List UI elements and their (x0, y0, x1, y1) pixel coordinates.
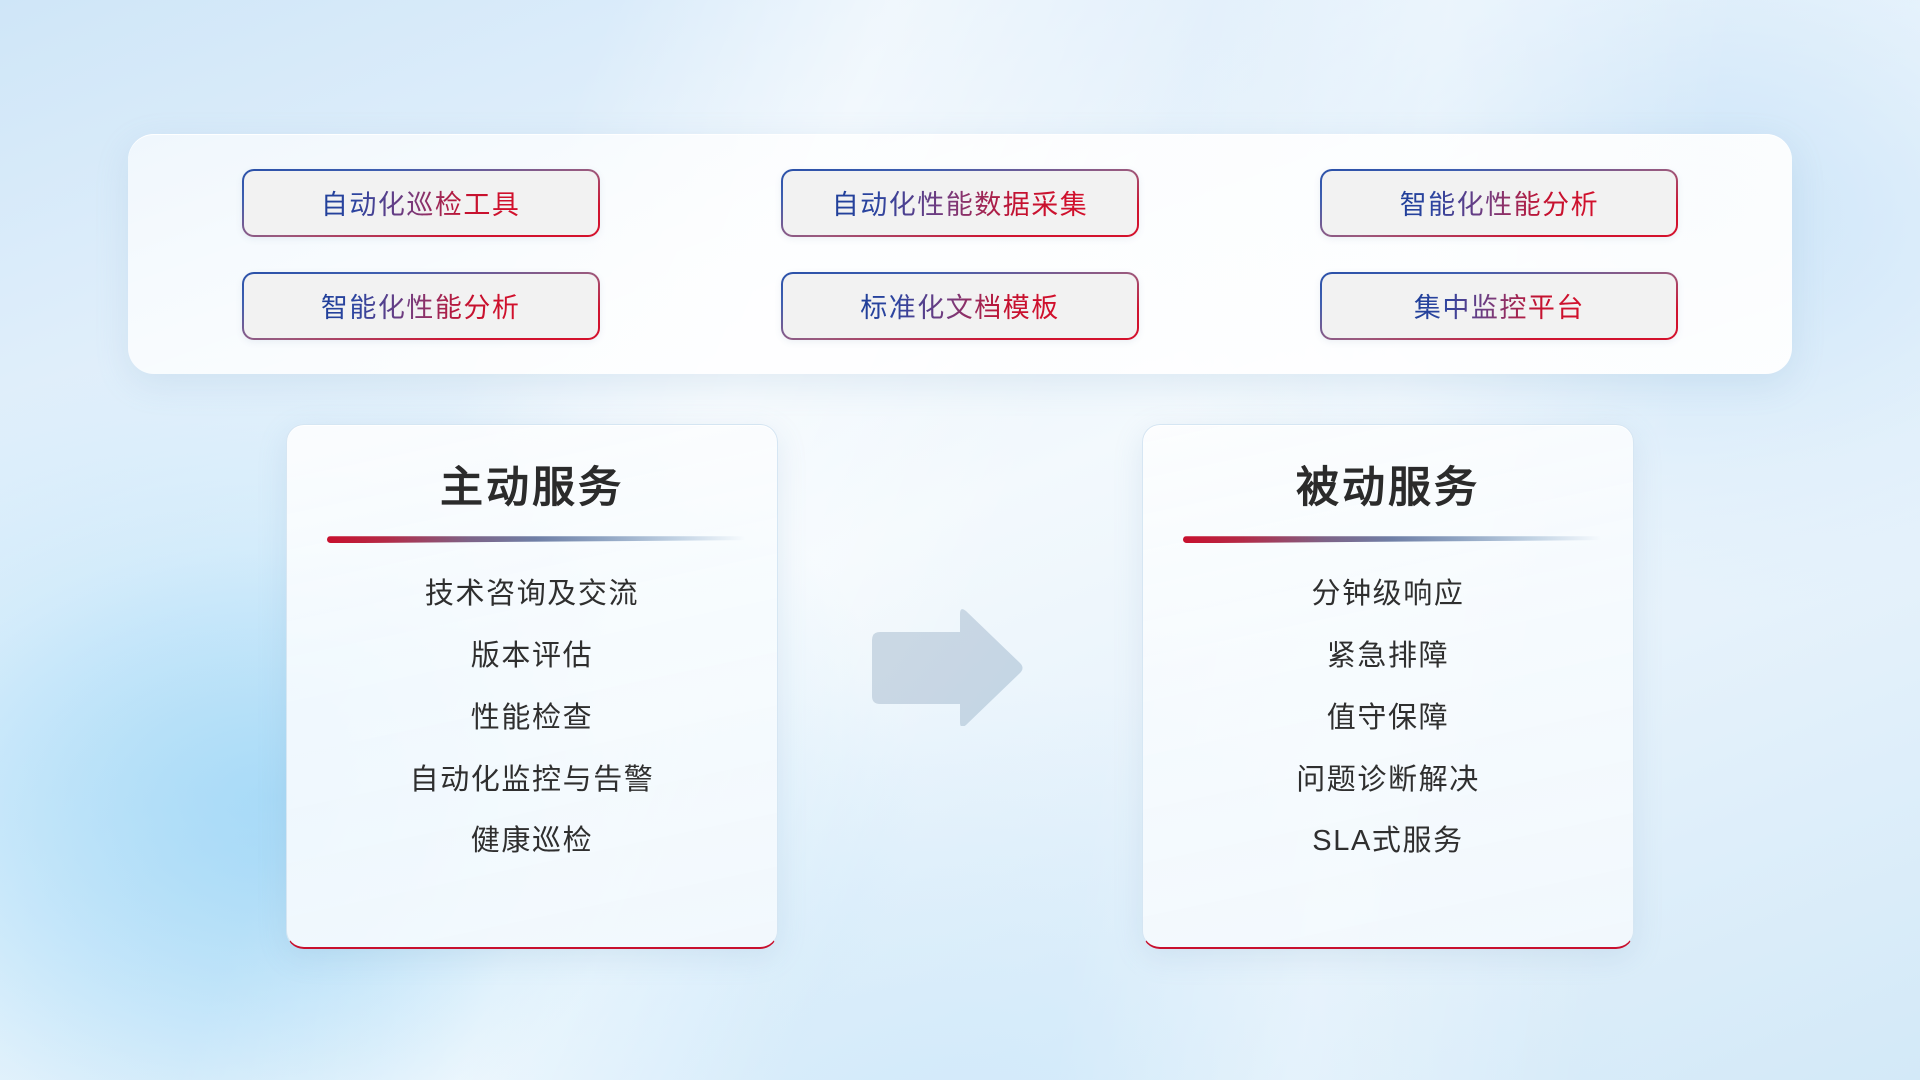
passive-service-list: 分钟级响应 紧急排障 值守保障 问题诊断解决 SLA式服务 (1183, 577, 1593, 859)
diagram-canvas: 自动化巡检工具 自动化性能数据采集 智能化性能分析 智能化性能分析 标准化文档模… (0, 0, 1920, 1080)
passive-service-card: 被动服务 分钟级响应 紧急排障 值守保障 问题诊断解决 SLA式服务 (1142, 424, 1634, 949)
list-item: 自动化监控与告警 (327, 763, 737, 798)
arrow-right-icon (866, 606, 1026, 726)
active-service-list: 技术咨询及交流 版本评估 性能检查 自动化监控与告警 健康巡检 (327, 577, 737, 859)
capability-chip-label: 标准化文档模板 (860, 286, 1060, 325)
title-rule-divider (1183, 536, 1601, 543)
list-item: 紧急排障 (1183, 639, 1593, 674)
capability-chip-5[interactable]: 标准化文档模板 (781, 272, 1139, 340)
list-item: 分钟级响应 (1183, 577, 1593, 612)
active-service-title: 主动服务 (327, 465, 737, 512)
capability-chip-6[interactable]: 集中监控平台 (1320, 272, 1678, 340)
capability-chip-label: 智能化性能分析 (321, 286, 521, 325)
list-item: 健康巡检 (327, 824, 737, 859)
capability-chip-3[interactable]: 智能化性能分析 (1320, 169, 1678, 237)
capability-chip-label: 自动化性能数据采集 (832, 183, 1089, 222)
list-item: SLA式服务 (1183, 824, 1593, 859)
active-service-card: 主动服务 技术咨询及交流 版本评估 性能检查 自动化监控与告警 健康巡检 (286, 424, 778, 949)
capability-chip-1[interactable]: 自动化巡检工具 (242, 169, 600, 237)
list-item: 性能检查 (327, 701, 737, 736)
capability-chip-label: 集中监控平台 (1414, 286, 1585, 325)
capability-chip-4[interactable]: 智能化性能分析 (242, 272, 600, 340)
capability-chip-label: 智能化性能分析 (1400, 183, 1600, 222)
list-item: 版本评估 (327, 639, 737, 674)
capability-panel: 自动化巡检工具 自动化性能数据采集 智能化性能分析 智能化性能分析 标准化文档模… (128, 134, 1792, 374)
title-rule-divider (327, 536, 745, 543)
capability-chip-2[interactable]: 自动化性能数据采集 (781, 169, 1139, 237)
capability-chip-label: 自动化巡检工具 (321, 183, 521, 222)
list-item: 值守保障 (1183, 701, 1593, 736)
passive-service-title: 被动服务 (1183, 465, 1593, 512)
list-item: 技术咨询及交流 (327, 577, 737, 612)
list-item: 问题诊断解决 (1183, 763, 1593, 798)
